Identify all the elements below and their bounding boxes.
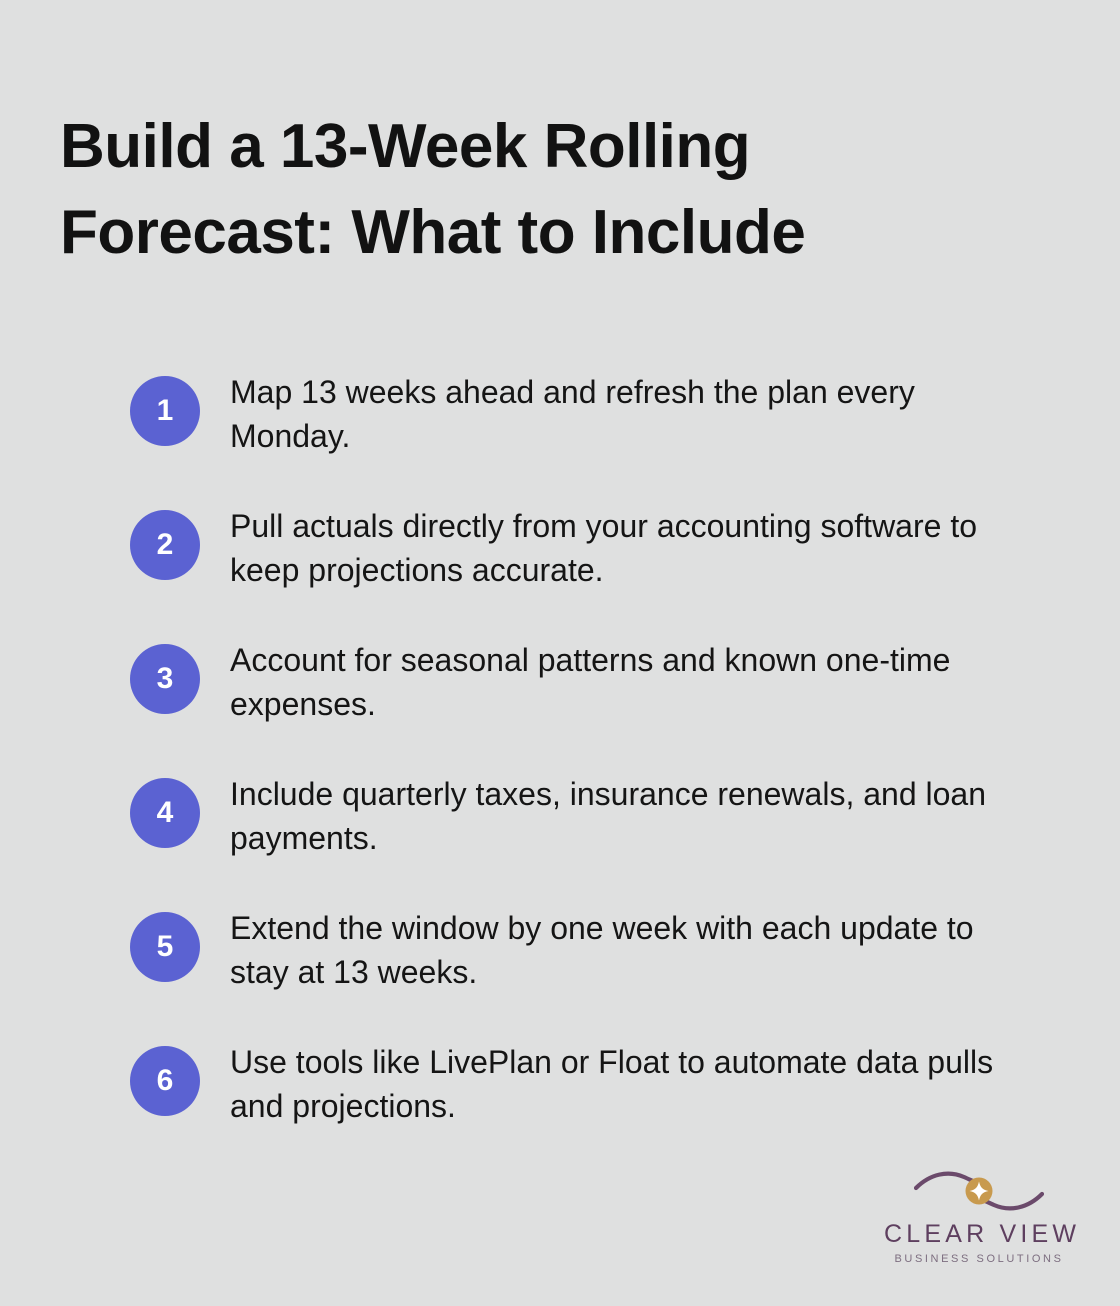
list-item: 6 Use tools like LivePlan or Float to au… [130, 1038, 1050, 1128]
list-item: 4 Include quarterly taxes, insurance ren… [130, 770, 1050, 860]
list-item: 2 Pull actuals directly from your accoun… [130, 502, 1050, 592]
step-text: Extend the window by one week with each … [230, 904, 1030, 994]
page-title: Build a 13-Week Rolling Forecast: What t… [60, 104, 960, 276]
step-text: Use tools like LivePlan or Float to auto… [230, 1038, 1030, 1128]
step-text: Account for seasonal patterns and known … [230, 636, 1030, 726]
step-number-badge: 4 [130, 778, 200, 848]
step-number-badge: 1 [130, 376, 200, 446]
step-text: Pull actuals directly from your accounti… [230, 502, 1030, 592]
logo-name: CLEAR VIEW [884, 1220, 1074, 1248]
list-item: 3 Account for seasonal patterns and know… [130, 636, 1050, 726]
step-text: Map 13 weeks ahead and refresh the plan … [230, 368, 1030, 458]
infographic-poster: Build a 13-Week Rolling Forecast: What t… [0, 0, 1120, 1306]
step-number-badge: 5 [130, 912, 200, 982]
eye-star-icon [914, 1168, 1044, 1214]
title-block: Build a 13-Week Rolling Forecast: What t… [60, 104, 960, 276]
step-number-badge: 3 [130, 644, 200, 714]
logo-tagline: BUSINESS SOLUTIONS [884, 1250, 1074, 1268]
list-item: 5 Extend the window by one week with eac… [130, 904, 1050, 994]
brand-logo: CLEAR VIEW BUSINESS SOLUTIONS [884, 1168, 1074, 1268]
step-number-badge: 2 [130, 510, 200, 580]
list-item: 1 Map 13 weeks ahead and refresh the pla… [130, 368, 1050, 458]
step-number-badge: 6 [130, 1046, 200, 1116]
step-text: Include quarterly taxes, insurance renew… [230, 770, 1030, 860]
steps-list: 1 Map 13 weeks ahead and refresh the pla… [130, 368, 1050, 1128]
